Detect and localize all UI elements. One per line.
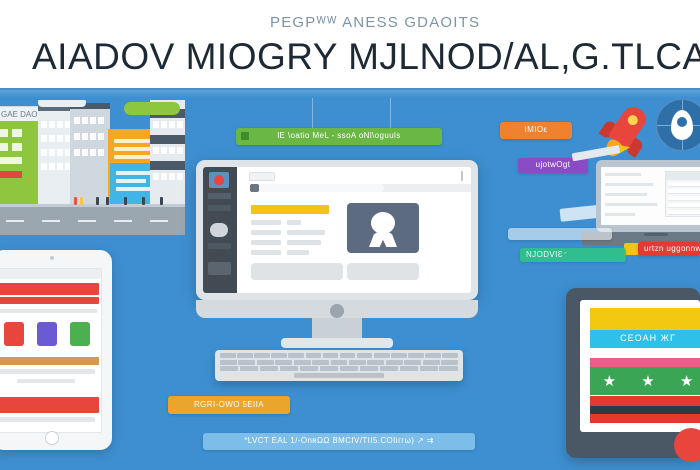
banner-red-bottom xyxy=(590,414,700,423)
star-icon: ★ xyxy=(603,374,616,389)
pedestrian xyxy=(96,197,99,205)
primary-action-button[interactable] xyxy=(251,263,343,280)
badge-orange: IMIOε xyxy=(500,122,572,139)
keyboard-spacebar xyxy=(294,373,384,378)
building-tall-right xyxy=(150,100,185,207)
light-beam xyxy=(312,98,313,132)
building-green xyxy=(0,121,40,207)
pedestrian xyxy=(124,197,127,205)
form-value xyxy=(287,240,321,245)
banner-cyan-text: CEOAH ЖГ xyxy=(590,333,700,343)
app-subheader-banner xyxy=(0,297,99,304)
page-icon xyxy=(250,184,259,192)
promo-strip xyxy=(0,357,99,365)
keyboard-row xyxy=(220,360,458,365)
monitor-caption-text: lE \oatio MeL - ssoA oNl\oguuls xyxy=(277,131,400,140)
monitor-caption-badge: lE \oatio MeL - ssoA oNl\oguuls xyxy=(236,128,442,145)
app-icon-row[interactable] xyxy=(0,317,97,351)
secondary-action-button[interactable] xyxy=(347,263,419,280)
laptop-device[interactable] xyxy=(596,160,700,280)
building-gray xyxy=(70,103,110,207)
sidebar-menu-item[interactable] xyxy=(208,205,231,211)
star-icon: ★ xyxy=(680,374,693,389)
browser-tab[interactable] xyxy=(249,172,275,181)
badge-square-icon xyxy=(241,132,249,140)
avatar xyxy=(210,223,228,237)
tablet-left-device[interactable] xyxy=(0,250,112,450)
banner-red-top xyxy=(590,396,700,406)
form-label xyxy=(251,240,281,245)
laptop-data-panel xyxy=(665,171,700,217)
sidebar-menu-item[interactable] xyxy=(208,243,231,249)
content-line xyxy=(0,417,95,422)
app-logo-icon xyxy=(209,172,229,188)
content-line xyxy=(17,379,75,383)
pedestrian xyxy=(74,197,77,205)
screenshot-root: PEGPᵂᵂ ANESS GDAOITS AIADOV MIOGRY MJLNO… xyxy=(0,0,700,470)
pedestrian xyxy=(106,197,109,205)
green-awning xyxy=(124,102,180,115)
monitor-power-dot xyxy=(330,304,344,318)
kebab-menu-icon[interactable] xyxy=(461,171,463,181)
badge-footer-yellow: RGRI-OWO 5EIIA xyxy=(168,396,290,414)
profile-card xyxy=(347,203,419,253)
keyboard-row xyxy=(220,366,458,371)
pedestrian xyxy=(80,197,83,205)
notification-blob-icon xyxy=(674,428,700,462)
content-line xyxy=(0,309,97,313)
page-header: PEGPᵂᵂ ANESS GDAOITS AIADOV MIOGRY MJLNO… xyxy=(0,0,700,90)
monitor-bezel xyxy=(196,160,478,300)
badge-ghost-strip xyxy=(508,228,612,240)
tablet-right-device[interactable]: CEOAH ЖГ ★ ★ ★ xyxy=(566,288,700,458)
laptop-lid xyxy=(596,160,700,232)
banner-dark xyxy=(590,406,700,414)
pedestrian xyxy=(142,197,145,205)
rating-stars: ★ ★ ★ xyxy=(590,370,700,392)
form-value xyxy=(287,250,309,255)
banner-pink xyxy=(590,358,700,367)
content-line xyxy=(0,369,95,374)
browser-sidebar[interactable] xyxy=(203,167,237,293)
form-value xyxy=(287,220,301,225)
monitor-screen[interactable] xyxy=(203,167,471,293)
rooftop-pad xyxy=(38,100,86,107)
tablet-status-bar xyxy=(0,269,102,279)
pedestrian xyxy=(160,197,163,205)
laptop-screen[interactable] xyxy=(601,167,700,225)
badge-footer-url: *LVCT EAL 1/-OnʀΩΩ BMCIV/TII5.COІіггω) ↗… xyxy=(203,433,475,450)
header-subtitle: PEGPᵂᵂ ANESS GDAOITS xyxy=(270,14,480,31)
banner-yellow xyxy=(590,308,700,330)
browser-content xyxy=(237,167,471,293)
app-icon-purple[interactable] xyxy=(37,322,57,346)
light-beam xyxy=(390,98,391,132)
badge-red: urtzn uggonnw xyxy=(638,242,700,256)
tablet-right-screen[interactable]: CEOAH ЖГ ★ ★ ★ xyxy=(580,300,700,432)
globe-pin-icon xyxy=(655,98,700,152)
app-icon-green[interactable] xyxy=(70,322,90,346)
monitor-stand-base xyxy=(281,338,393,348)
star-icon: ★ xyxy=(641,374,654,389)
form-value xyxy=(287,230,325,235)
banner-cyan: CEOAH ЖГ xyxy=(590,330,700,348)
user-avatar-body-icon xyxy=(369,231,397,247)
tablet-camera-icon xyxy=(50,256,54,260)
keyboard[interactable] xyxy=(215,350,463,381)
form-label xyxy=(251,220,281,225)
user-avatar-icon xyxy=(371,212,395,234)
desktop-monitor xyxy=(196,160,478,310)
sidebar-block[interactable] xyxy=(208,262,231,275)
form-label xyxy=(251,250,281,255)
sidebar-menu-item[interactable] xyxy=(208,193,231,199)
page-title: AIADOV MIOGRY MJLNOD/AL,G.TLCAA xyxy=(32,36,700,78)
form-label xyxy=(251,230,281,235)
app-header-banner xyxy=(0,283,99,295)
address-bar[interactable] xyxy=(249,184,471,192)
highlighted-field[interactable] xyxy=(251,205,329,214)
badge-mint: NJODVIƐ⁻ xyxy=(520,248,626,262)
city-illustration: GAE DAOIs xyxy=(0,100,185,235)
app-icon-red[interactable] xyxy=(4,322,24,346)
canvas-top-gradient xyxy=(0,90,700,98)
cta-banner[interactable] xyxy=(0,397,99,413)
keyboard-row xyxy=(220,353,458,358)
tablet-left-screen[interactable] xyxy=(0,268,102,433)
building-light xyxy=(38,111,72,207)
laptop-hinge xyxy=(644,233,668,236)
road xyxy=(0,207,185,235)
tablet-home-button[interactable] xyxy=(45,431,59,445)
